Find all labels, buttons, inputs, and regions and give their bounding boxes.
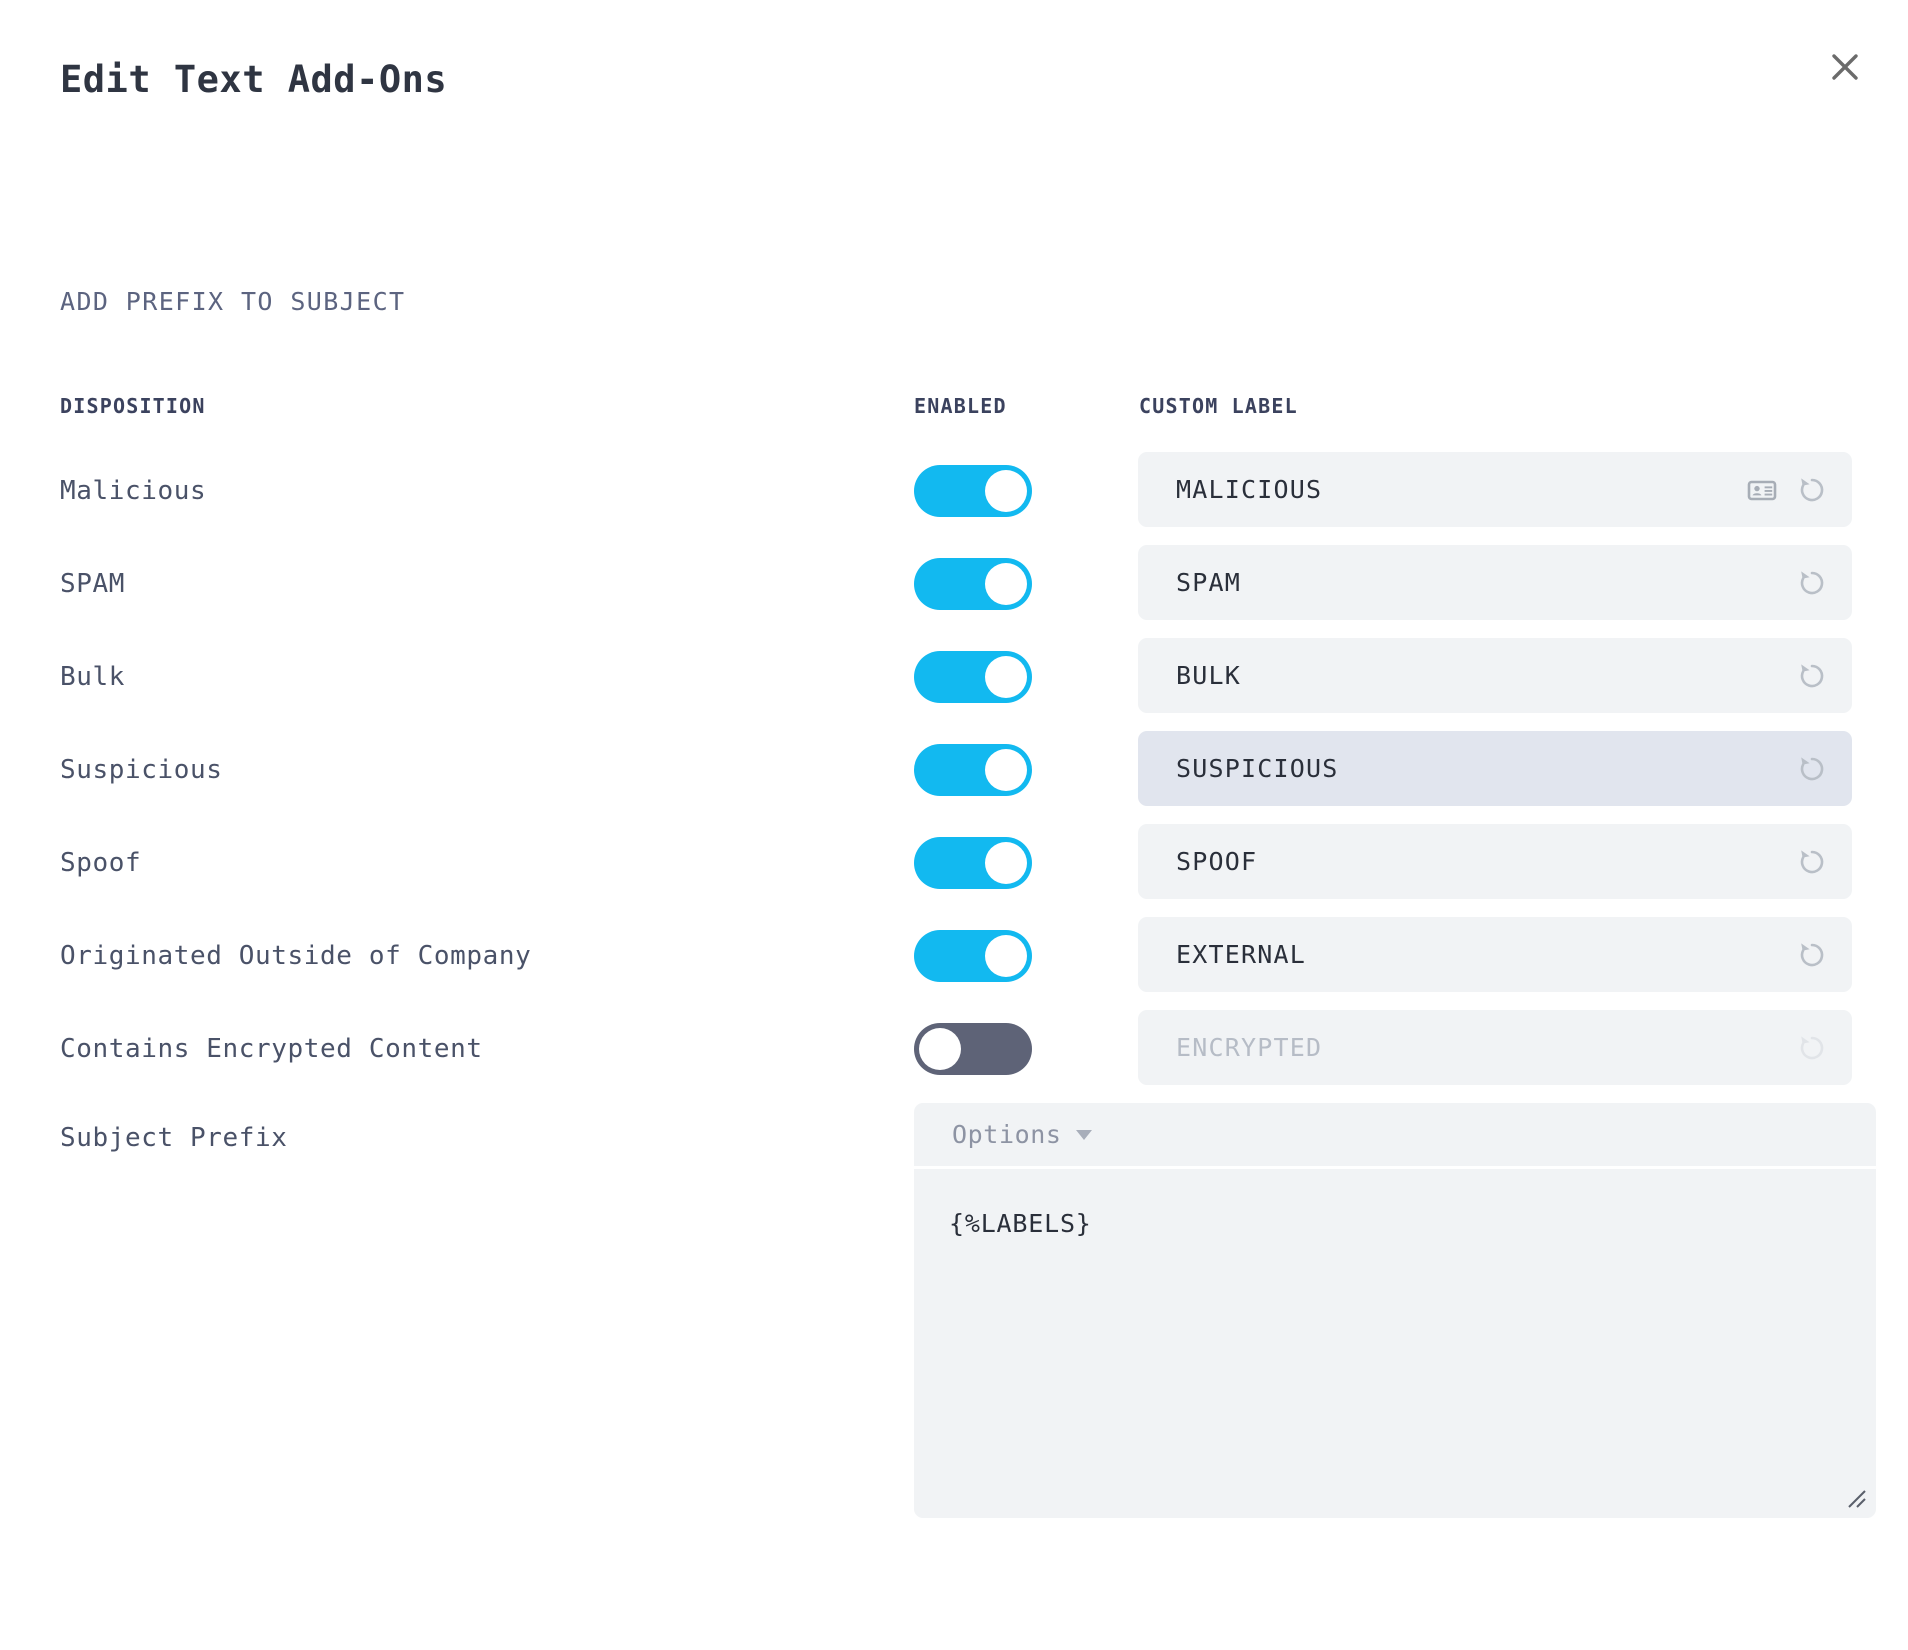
disposition-label: SPAM [60,569,125,599]
reset-icon[interactable] [1794,472,1830,508]
custom-label-value: SPAM [1176,568,1241,597]
disposition-label: Originated Outside of Company [60,941,531,971]
field-icon-group [1794,731,1830,806]
toggle-knob [985,470,1027,512]
field-icon-group [1794,638,1830,713]
toggle-knob [985,563,1027,605]
edit-text-addons-dialog: Edit Text Add-Ons ADD PREFIX TO SUBJECT … [0,0,1908,1650]
options-dropdown[interactable]: Options [914,1103,1876,1166]
close-icon [1830,52,1860,82]
reset-icon[interactable] [1794,751,1830,787]
custom-label-input[interactable]: SPAM [1138,545,1852,620]
field-icon-group [1794,1010,1830,1085]
reset-icon[interactable] [1794,937,1830,973]
reset-icon [1794,1030,1830,1066]
custom-label-value: MALICIOUS [1176,475,1322,504]
toggle-spoof[interactable] [914,837,1032,889]
custom-label-value: SUSPICIOUS [1176,754,1339,783]
subject-prefix-label: Subject Prefix [60,1123,288,1153]
custom-label-input[interactable]: SUSPICIOUS [1138,731,1852,806]
reset-icon[interactable] [1794,565,1830,601]
options-dropdown-label: Options [952,1120,1062,1149]
disposition-label: Spoof [60,848,141,878]
toggle-knob [919,1028,961,1070]
table-row: MaliciousMALICIOUS [0,452,1908,545]
toggle-malicious[interactable] [914,465,1032,517]
column-header-disposition: DISPOSITION [60,394,206,418]
column-header-enabled: ENABLED [914,394,1007,418]
custom-label-value: EXTERNAL [1176,940,1306,969]
table-row: Originated Outside of CompanyEXTERNAL [0,917,1908,1010]
toggle-knob [985,749,1027,791]
toggle-knob [985,842,1027,884]
custom-label-value: ENCRYPTED [1176,1033,1322,1062]
reset-icon[interactable] [1794,658,1830,694]
section-label: ADD PREFIX TO SUBJECT [60,287,405,316]
custom-label-input[interactable]: BULK [1138,638,1852,713]
table-row: SuspiciousSUSPICIOUS [0,731,1908,824]
toggle-knob [985,935,1027,977]
disposition-label: Bulk [60,662,125,692]
subject-prefix-textarea[interactable]: {%LABELS} [914,1169,1876,1518]
custom-label-input: ENCRYPTED [1138,1010,1852,1085]
custom-label-input[interactable]: MALICIOUS [1138,452,1852,527]
close-button[interactable] [1818,40,1872,94]
disposition-label: Malicious [60,476,206,506]
toggle-knob [985,656,1027,698]
field-icon-group [1794,824,1830,899]
disposition-label: Suspicious [60,755,223,785]
field-icon-group [1794,545,1830,620]
subject-prefix-value: {%LABELS} [949,1209,1092,1238]
column-header-custom-label: CUSTOM LABEL [1139,394,1298,418]
reset-icon[interactable] [1794,844,1830,880]
id-card-icon[interactable] [1744,472,1780,508]
field-icon-group [1744,452,1830,527]
toggle-originated-outside-of-company[interactable] [914,930,1032,982]
toggle-suspicious[interactable] [914,744,1032,796]
custom-label-value: SPOOF [1176,847,1257,876]
table-row: BulkBULK [0,638,1908,731]
custom-label-value: BULK [1176,661,1241,690]
disposition-label: Contains Encrypted Content [60,1034,483,1064]
toggle-contains-encrypted-content[interactable] [914,1023,1032,1075]
resize-grip-icon[interactable] [1846,1488,1868,1510]
table-row: Contains Encrypted ContentENCRYPTED [0,1010,1908,1103]
page-title: Edit Text Add-Ons [60,58,447,101]
custom-label-input[interactable]: EXTERNAL [1138,917,1852,992]
table-row: SpoofSPOOF [0,824,1908,917]
chevron-down-icon [1076,1130,1092,1140]
custom-label-input[interactable]: SPOOF [1138,824,1852,899]
toggle-bulk[interactable] [914,651,1032,703]
disposition-rows: MaliciousMALICIOUSSPAMSPAMBulkBULKSuspic… [0,452,1908,1103]
table-row: SPAMSPAM [0,545,1908,638]
field-icon-group [1794,917,1830,992]
toggle-spam[interactable] [914,558,1032,610]
